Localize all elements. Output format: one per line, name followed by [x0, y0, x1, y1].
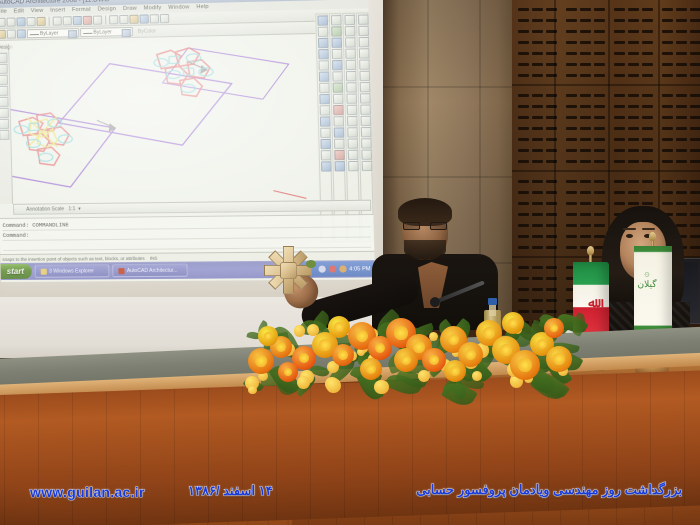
flower-bloom — [360, 358, 382, 380]
opening-tool-icon[interactable] — [318, 49, 329, 59]
banner-date: ۱۴ اسفند /۱۳۸۶ — [188, 483, 273, 499]
menu-item-insert[interactable]: Insert — [50, 7, 65, 13]
ray-icon[interactable] — [347, 127, 358, 137]
menu-item-view[interactable]: View — [31, 8, 44, 14]
palette-title: Design — [0, 44, 8, 52]
annotation-scale-value[interactable]: 1:1 — [68, 206, 75, 212]
flower-bloom — [248, 348, 274, 374]
mirror-icon[interactable] — [332, 49, 343, 59]
autocad-drawing-canvas[interactable] — [9, 37, 317, 204]
center-mark-icon[interactable] — [361, 116, 372, 126]
column-tool-icon[interactable] — [320, 105, 331, 115]
speaker-glasses — [403, 222, 447, 230]
flower-arrangement — [244, 296, 574, 392]
flower-bloom — [502, 312, 524, 334]
flower-bud — [374, 380, 388, 394]
drawing-geometry — [9, 37, 317, 204]
banner-website-url: www.guilan.ac.ir — [30, 484, 145, 500]
paste-icon[interactable] — [73, 16, 82, 25]
copy-icon[interactable] — [63, 16, 72, 25]
space-tool-icon[interactable] — [320, 139, 331, 149]
menu-item-help[interactable]: Help — [196, 4, 209, 10]
palette-stair-icon[interactable] — [0, 86, 8, 96]
menu-item-modify[interactable]: Modify — [144, 5, 162, 11]
model-green-accent — [306, 260, 316, 268]
flower-bud — [472, 371, 482, 381]
join-icon[interactable] — [334, 139, 345, 149]
fillet-icon[interactable] — [333, 105, 344, 115]
flag-finial-iran — [587, 246, 594, 255]
flower-bud — [248, 386, 257, 395]
flower-bloom — [332, 344, 354, 366]
radius-dimension-icon[interactable] — [359, 48, 370, 58]
woman-eyebrow-right — [642, 228, 655, 230]
university-logo-icon: ۞گیلان — [636, 268, 658, 300]
open-file-icon[interactable] — [6, 18, 15, 27]
undo-icon[interactable] — [83, 16, 92, 25]
taskbar-item-autocad[interactable]: AutoCAD Architectur... — [113, 264, 189, 278]
scale-icon[interactable] — [331, 38, 342, 48]
menu-item-edit[interactable]: Edit — [14, 8, 24, 14]
tray-antivirus-icon[interactable] — [328, 265, 335, 272]
menu-item-file[interactable]: File — [0, 9, 7, 15]
polygon-icon[interactable] — [346, 82, 357, 92]
toolbar-separator-2 — [105, 15, 106, 24]
new-file-icon[interactable] — [0, 18, 6, 27]
taskbar-item-explorer-label: 3 Windows Explorer — [49, 265, 94, 277]
diameter-dimension-icon[interactable] — [359, 59, 370, 69]
designcenter-icon[interactable] — [150, 14, 159, 23]
leader-icon[interactable] — [360, 93, 371, 103]
redo-icon[interactable] — [93, 15, 102, 24]
window-tool-icon[interactable] — [318, 38, 329, 48]
podium-front-panel — [0, 369, 700, 525]
slab-tool-icon[interactable] — [319, 60, 330, 70]
autocad-icon — [119, 268, 125, 274]
arc-icon[interactable] — [345, 37, 356, 47]
arc-length-icon[interactable] — [359, 71, 370, 81]
polyline-icon[interactable] — [345, 26, 356, 36]
region-icon[interactable] — [348, 150, 359, 160]
flag-finial-univ — [649, 232, 656, 241]
properties-icon[interactable] — [129, 15, 138, 24]
ellipse-icon[interactable] — [346, 60, 357, 70]
menu-item-format[interactable]: Format — [72, 7, 91, 13]
railing-tool-icon[interactable] — [319, 94, 330, 104]
zoom-icon[interactable] — [119, 15, 128, 24]
table-icon[interactable] — [362, 161, 373, 171]
palette-slab-icon[interactable] — [0, 130, 9, 140]
rectangle-icon[interactable] — [346, 71, 357, 81]
flower-bloom — [546, 346, 572, 372]
beam-tool-icon[interactable] — [320, 116, 331, 126]
gradient-icon[interactable] — [335, 161, 346, 171]
palette-grid-icon[interactable] — [0, 108, 8, 118]
print-icon[interactable] — [26, 17, 35, 26]
taskbar-clock[interactable]: 4:05 PM — [349, 266, 371, 272]
start-button[interactable]: start — [0, 264, 32, 279]
palette-wall-icon[interactable] — [0, 53, 7, 63]
flower-bloom — [544, 318, 564, 338]
plot-icon[interactable] — [37, 17, 46, 26]
flower-bud — [326, 378, 341, 393]
iran-emblem-icon: ﷲ — [584, 296, 600, 309]
woman-eyebrow-left — [623, 228, 636, 230]
hatch-icon[interactable] — [334, 150, 345, 160]
offset-icon[interactable] — [332, 71, 343, 81]
bycolor-label: ByColor — [138, 28, 156, 34]
banner-event-title: بزرگداشت روز مهندسی ویادمان پروفسور حساب… — [416, 482, 682, 498]
brace-tool-icon[interactable] — [320, 128, 331, 138]
toolpalette-icon[interactable] — [160, 14, 169, 23]
explode-icon[interactable] — [334, 127, 345, 137]
flower-bud — [418, 370, 430, 382]
zone-tool-icon[interactable] — [321, 150, 332, 160]
line-icon[interactable] — [344, 15, 355, 25]
flower-bud — [294, 325, 305, 336]
command-input[interactable] — [3, 238, 371, 251]
move-icon[interactable] — [331, 15, 342, 25]
menu-item-draw[interactable]: Draw — [123, 6, 137, 12]
toolbar-separator — [49, 17, 50, 26]
linear-dimension-icon[interactable] — [358, 14, 369, 24]
extend-icon[interactable] — [333, 94, 344, 104]
palette-window-icon[interactable] — [0, 75, 8, 85]
dimension-style-icon[interactable] — [361, 127, 372, 137]
flower-bloom — [328, 316, 350, 338]
taskbar-item-autocad-label: AutoCAD Architectur... — [127, 264, 178, 276]
annotation-scale-label: Annotation Scale — [26, 206, 64, 212]
save-icon[interactable] — [16, 17, 25, 26]
menu-item-window[interactable]: Window — [168, 4, 189, 11]
circle-icon[interactable] — [345, 48, 356, 58]
flower-bloom — [258, 326, 278, 346]
palette-column-icon[interactable] — [0, 119, 9, 129]
point-icon[interactable] — [347, 105, 358, 115]
rotate-icon[interactable] — [331, 26, 342, 36]
autocad-command-line[interactable]: Command: COMMANDLINE Command: — [0, 214, 374, 254]
construction-line-icon[interactable] — [347, 116, 358, 126]
spline-icon[interactable] — [346, 93, 357, 103]
palette-door-icon[interactable] — [0, 64, 7, 74]
boundary-icon[interactable] — [348, 161, 359, 171]
chamfer-icon[interactable] — [333, 116, 344, 126]
flower-bloom — [394, 348, 418, 372]
layer-combo[interactable]: ByLayer — [27, 28, 80, 38]
aligned-dimension-icon[interactable] — [358, 26, 369, 36]
roof-tool-icon[interactable] — [319, 71, 330, 81]
linetype-combo[interactable]: ByLayer — [80, 27, 133, 37]
revcloud-icon[interactable] — [348, 138, 359, 148]
pan-icon[interactable] — [109, 15, 118, 24]
layer-state-icon[interactable] — [0, 30, 6, 39]
flower-bloom — [444, 360, 466, 382]
mass-element-icon[interactable] — [321, 161, 332, 171]
wall-tool-icon[interactable] — [317, 15, 328, 25]
folder-icon — [41, 268, 47, 274]
flower-bloom — [278, 362, 298, 382]
angular-dimension-icon[interactable] — [359, 37, 370, 47]
flower-bud — [297, 376, 310, 389]
taskbar-item-explorer[interactable]: 3 Windows Explorer — [35, 264, 110, 278]
windows-taskbar[interactable]: start 3 Windows Explorer AutoCAD Archite… — [0, 260, 375, 280]
linetype-combo-value: ByLayer — [93, 29, 112, 35]
projection-screen: AutoCAD Architecture 2008 - [11.DWG File… — [0, 0, 375, 282]
menu-item-design[interactable]: Design — [98, 6, 117, 12]
tray-volume-icon[interactable] — [339, 265, 346, 272]
tolerance-icon[interactable] — [360, 104, 371, 114]
status-mode-ins[interactable]: INS — [150, 256, 158, 261]
ordinate-dimension-icon[interactable] — [360, 82, 371, 92]
multiline-text-icon[interactable] — [361, 149, 372, 159]
array-icon[interactable] — [332, 60, 343, 70]
flower-bloom — [422, 348, 446, 372]
layer-manager-icon[interactable] — [140, 14, 149, 23]
dimension-update-icon[interactable] — [361, 138, 372, 148]
layer-combo-value: ByLayer — [40, 31, 59, 37]
stair-tool-icon[interactable] — [319, 83, 330, 93]
layer-off-icon[interactable] — [7, 30, 16, 39]
wooden-geometric-model — [262, 244, 314, 296]
palette-roof-icon[interactable] — [0, 97, 8, 107]
screenshot-root: AutoCAD Architecture 2008 - [11.DWG File… — [0, 0, 700, 525]
cut-icon[interactable] — [53, 16, 62, 25]
trim-icon[interactable] — [333, 82, 344, 92]
tray-network-icon[interactable] — [318, 266, 325, 273]
door-tool-icon[interactable] — [318, 27, 329, 37]
speaker-beard — [404, 240, 446, 260]
layer-freeze-icon[interactable] — [17, 29, 26, 38]
